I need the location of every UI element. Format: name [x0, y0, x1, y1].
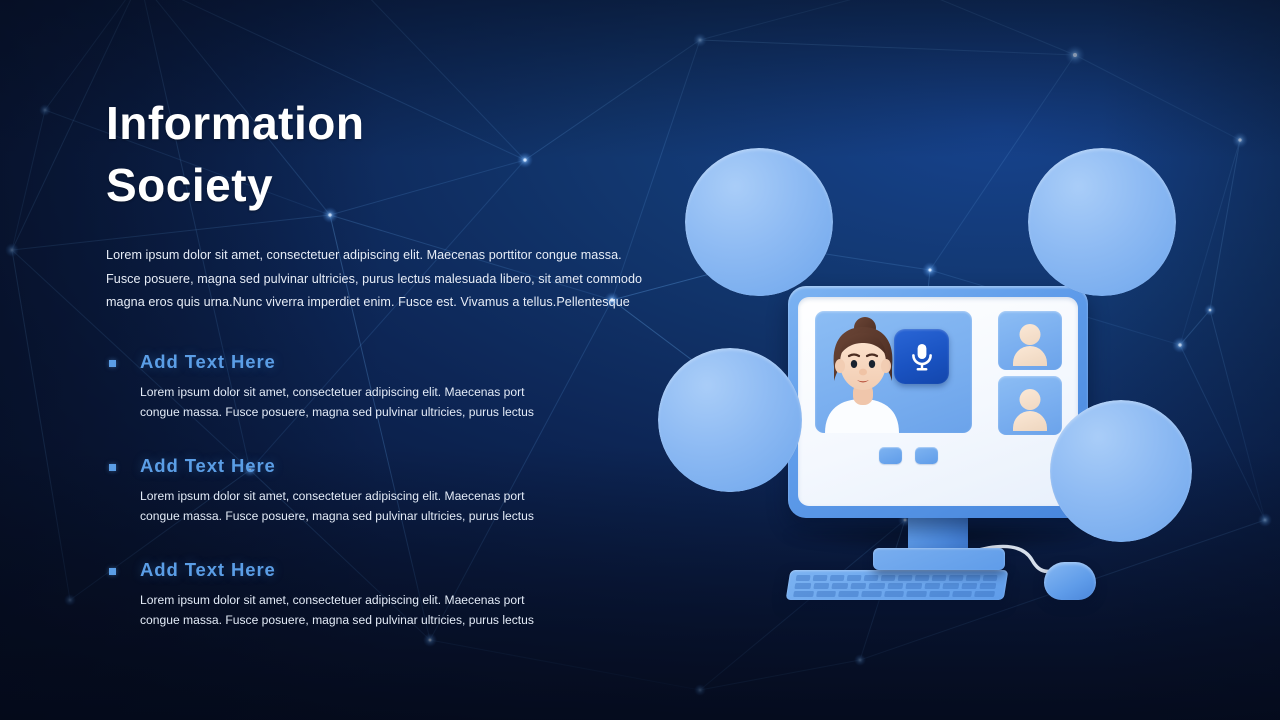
list-item-heading: Add Text Here — [140, 455, 666, 477]
keyboard-row — [794, 583, 996, 589]
monitor-frame[interactable] — [788, 286, 1088, 518]
title-line-2: Society — [106, 154, 666, 216]
avatar-disc — [1050, 400, 1192, 542]
person-placeholder-body-icon — [1013, 346, 1047, 366]
avatar-disc — [658, 348, 802, 492]
video-conference-illustration — [640, 118, 1240, 638]
person-placeholder-head-icon — [1020, 389, 1041, 410]
participant-thumbnail[interactable] — [998, 376, 1062, 435]
person-placeholder-body-icon — [1013, 411, 1047, 431]
square-bullet-icon — [109, 568, 116, 575]
intro-paragraph: Lorem ipsum dolor sit amet, consectetuer… — [106, 244, 646, 315]
list-item-body: Lorem ipsum dolor sit amet, consectetuer… — [140, 486, 550, 527]
avatar-disc — [685, 148, 833, 296]
avatar-disc — [1028, 148, 1176, 296]
list-item-heading: Add Text Here — [140, 559, 666, 581]
keyboard-row — [793, 591, 995, 597]
avatar[interactable] — [1050, 400, 1192, 542]
monitor-stand-base — [873, 548, 1005, 570]
list-item-body: Lorem ipsum dolor sit amet, consectetuer… — [140, 382, 550, 423]
microphone-button[interactable] — [894, 329, 949, 384]
bullet-list: Add Text Here Lorem ipsum dolor sit amet… — [106, 351, 666, 631]
avatar[interactable] — [658, 348, 802, 492]
list-item-heading: Add Text Here — [140, 351, 666, 373]
text-column: Information Society Lorem ipsum dolor si… — [106, 92, 666, 631]
control-button[interactable] — [879, 447, 902, 464]
list-item-body: Lorem ipsum dolor sit amet, consectetuer… — [140, 590, 550, 631]
computer-mouse[interactable] — [1044, 562, 1096, 600]
page-title: Information Society — [106, 92, 666, 216]
avatar[interactable] — [685, 148, 833, 296]
keyboard-row — [796, 575, 998, 581]
person-placeholder-head-icon — [1020, 324, 1041, 345]
control-button[interactable] — [915, 447, 938, 464]
slide-canvas: Information Society Lorem ipsum dolor si… — [0, 0, 1280, 720]
avatar[interactable] — [1028, 148, 1176, 296]
list-item[interactable]: Add Text Here Lorem ipsum dolor sit amet… — [106, 455, 666, 527]
list-item[interactable]: Add Text Here Lorem ipsum dolor sit amet… — [106, 559, 666, 631]
microphone-icon — [908, 342, 936, 372]
list-item[interactable]: Add Text Here Lorem ipsum dolor sit amet… — [106, 351, 666, 423]
participant-thumbnail[interactable] — [998, 311, 1062, 370]
monitor-screen — [798, 297, 1078, 506]
keyboard[interactable] — [786, 570, 1009, 600]
title-line-1: Information — [106, 92, 666, 154]
square-bullet-icon — [109, 464, 116, 471]
square-bullet-icon — [109, 360, 116, 367]
